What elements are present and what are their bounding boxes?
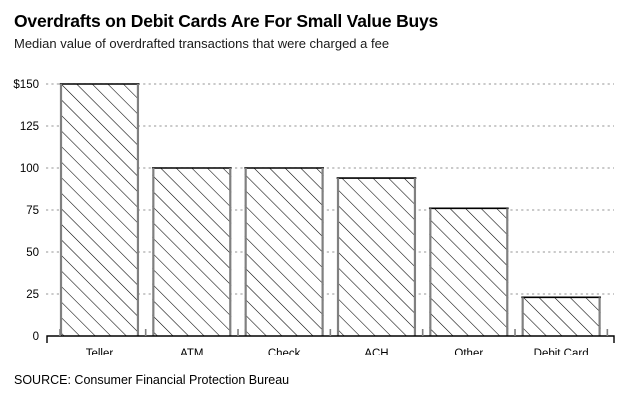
x-tick-label: ACH (364, 348, 388, 355)
bar (521, 297, 601, 336)
chart-figure: Overdrafts on Debit Cards Are For Small … (0, 0, 630, 400)
bar-rect (522, 297, 601, 336)
x-tick-label: Teller (86, 348, 114, 355)
bar-chart-svg: 0255075100125$150 TellerATMCheckACHOther… (0, 70, 630, 355)
plot-area: 0255075100125$150 TellerATMCheckACHOther… (0, 70, 630, 355)
chart-title: Overdrafts on Debit Cards Are For Small … (14, 10, 620, 32)
bar (429, 208, 509, 336)
bars (60, 84, 601, 336)
bar (60, 84, 140, 336)
bar (337, 178, 417, 336)
bar-rect (337, 178, 416, 336)
y-axis-tick-labels: 0255075100125$150 (13, 79, 39, 343)
bar-rect (152, 168, 231, 336)
y-tick-label: $150 (13, 79, 39, 91)
bar-rect (429, 208, 508, 336)
y-tick-label: 125 (20, 121, 39, 133)
x-tick-label: ATM (180, 348, 203, 355)
chart-header: Overdrafts on Debit Cards Are For Small … (14, 10, 620, 53)
chart-footer: SOURCE: Consumer Financial Protection Bu… (14, 372, 620, 388)
x-tick-label: Check (268, 348, 301, 355)
y-tick-label: 50 (26, 247, 39, 259)
x-tick-label: Other (454, 348, 483, 355)
y-tick-label: 75 (26, 205, 39, 217)
x-axis-tick-labels: TellerATMCheckACHOtherDebit Card (86, 348, 589, 355)
y-tick-label: 25 (26, 289, 39, 301)
chart-subtitle: Median value of overdrafted transactions… (14, 35, 620, 53)
x-axis-line (47, 336, 614, 343)
y-tick-label: 100 (20, 163, 39, 175)
y-tick-label: 0 (33, 331, 39, 343)
source-note: SOURCE: Consumer Financial Protection Bu… (14, 372, 620, 388)
bar-rect (245, 168, 324, 336)
bar (152, 168, 232, 336)
bar (244, 168, 324, 336)
bar-rect (60, 84, 139, 336)
x-tick-label: Debit Card (534, 348, 589, 355)
